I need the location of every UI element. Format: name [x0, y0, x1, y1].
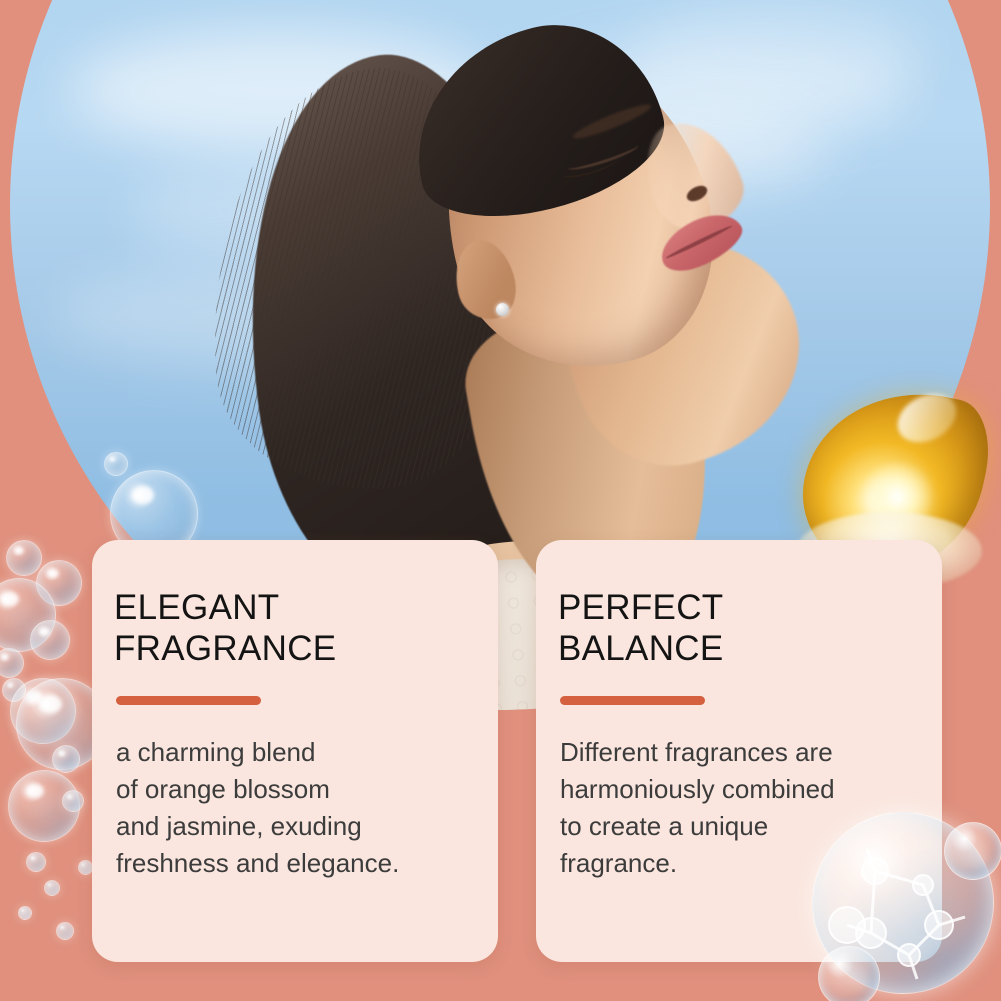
accent-divider: [560, 696, 705, 705]
card-title: PERFECT BALANCE: [558, 588, 908, 670]
bubble-icon: [944, 822, 1001, 880]
card-title: ELEGANT FRAGRANCE: [114, 588, 464, 670]
feature-card-elegant-fragrance[interactable]: ELEGANT FRAGRANCE a charming blend of or…: [92, 540, 498, 962]
bubble-icon: [62, 790, 84, 812]
card-body-text: a charming blend of orange blossom and j…: [116, 734, 464, 882]
bubble-icon: [104, 452, 128, 476]
bubble-icon: [30, 620, 70, 660]
bubble-icon: [26, 852, 46, 872]
bubble-icon: [52, 745, 80, 773]
bubble-icon: [6, 540, 42, 576]
pearl-earring-icon: [496, 303, 509, 316]
bubble-icon: [818, 946, 880, 1001]
bubble-icon: [78, 860, 93, 875]
bubble-icon: [18, 906, 32, 920]
product-feature-poster: ELEGANT FRAGRANCE a charming blend of or…: [0, 0, 1001, 1001]
bubble-icon: [56, 922, 74, 940]
bubble-icon: [44, 880, 60, 896]
accent-divider: [116, 696, 261, 705]
